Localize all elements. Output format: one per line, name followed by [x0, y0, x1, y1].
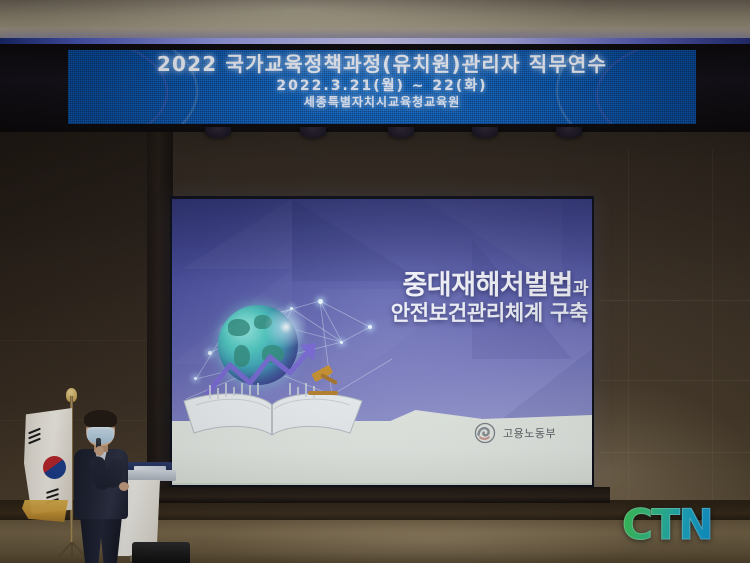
presenter-legs: [80, 516, 122, 563]
led-banner-title: 2022 국가교육정책과정(유치원)관리자 직무연수: [68, 52, 696, 77]
conference-hall-photo: 2022 국가교육정책과정(유치원)관리자 직무연수 2022.3.21(월) …: [0, 0, 750, 563]
globe-landmass: [228, 319, 250, 336]
presenter-hand-right: [119, 482, 129, 491]
ministry-logo-text: 고용노동부: [503, 425, 556, 441]
presenter: [62, 412, 140, 563]
ceiling-downlight-icon: [300, 127, 326, 138]
slide-title-line2: 안전보건관리체계 구축: [300, 300, 588, 326]
ceiling-light-sheen: [0, 0, 750, 42]
screen-bottom-rail: [140, 487, 610, 503]
led-banner-dates: 2022.3.21(월) ~ 22(화): [68, 77, 696, 95]
presenter-hand-left: [95, 446, 104, 456]
slide-title-line1: 중대재해처벌법과: [300, 272, 588, 300]
ceiling-downlight-icon: [472, 127, 498, 138]
wall-seam: [0, 340, 150, 341]
ceiling-downlight-icon: [388, 127, 414, 138]
gavel-icon: [306, 361, 346, 401]
ctn-watermark: CTN: [622, 500, 712, 549]
led-banner-text: 2022 국가교육정책과정(유치원)관리자 직무연수 2022.3.21(월) …: [68, 50, 696, 110]
taegeuk-swirl-icon: [474, 422, 496, 444]
slide-title-main: 중대재해처벌법: [402, 270, 572, 301]
led-banner-venue: 세종특별자치시교육청교육원: [68, 95, 696, 110]
slide-title-suffix: 과: [573, 279, 588, 299]
ceiling-downlight-icon: [556, 127, 582, 138]
slide-title-block: 중대재해처벌법과 안전보건관리체계 구축: [300, 272, 588, 327]
led-banner-display: 2022 국가교육정책과정(유치원)관리자 직무연수 2022.3.21(월) …: [68, 50, 696, 124]
confidence-monitor-icon: [132, 542, 190, 563]
presenter-hair: [84, 410, 117, 428]
ministry-logo: 고용노동부: [474, 418, 586, 448]
wall-seam: [600, 300, 750, 301]
ceiling-downlight-icon: [205, 127, 231, 138]
